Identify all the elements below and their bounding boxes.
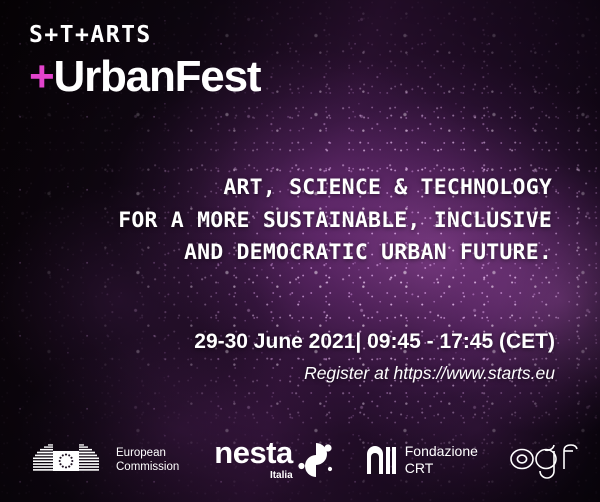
ogr-outline-wordmark-icon	[508, 437, 580, 484]
logo-fondazione-crt: Fondazione CRT	[365, 441, 478, 480]
headline-line-3: AND DEMOCRATIC URBAN FUTURE.	[118, 237, 552, 270]
logo-crt-line-2: CRT	[405, 460, 434, 476]
headline-line-2: FOR A MORE SUSTAINABLE, INCLUSIVE	[118, 205, 552, 238]
event-date-time: 29-30 June 2021| 09:45 - 17:45 (CET)	[194, 329, 555, 354]
fondazione-crt-bars-icon	[365, 441, 397, 480]
event-info: 29-30 June 2021| 09:45 - 17:45 (CET) Reg…	[194, 329, 555, 384]
logo-nesta-italia: nesta Italia	[214, 437, 332, 484]
nesta-circle-icon	[297, 439, 333, 484]
logo-nesta-sub: Italia	[214, 471, 292, 481]
logo-nesta-word: nesta	[214, 435, 292, 470]
logo-crt-line-1: Fondazione	[405, 443, 478, 459]
logo-ogr	[508, 437, 580, 484]
sponsor-logo-bar: European Commission nesta Italia	[0, 432, 600, 488]
brand-plus-symbol: +	[29, 52, 54, 101]
brand-urbanfest-text: UrbanFest	[54, 52, 261, 101]
headline-line-1: ART, SCIENCE & TECHNOLOGY	[118, 172, 552, 205]
logo-fondazione-crt-text: Fondazione CRT	[405, 443, 478, 476]
brand-urbanfest-label: +UrbanFest	[29, 55, 260, 99]
logo-ec-line-1: European	[116, 447, 166, 459]
brand-lockup: S+T+ARTS +UrbanFest	[29, 24, 260, 99]
logo-european-commission: European Commission	[33, 438, 179, 483]
poster-canvas: S+T+ARTS +UrbanFest ART, SCIENCE & TECHN…	[0, 0, 600, 502]
poster-content: S+T+ARTS +UrbanFest ART, SCIENCE & TECHN…	[0, 0, 600, 502]
event-register-link[interactable]: Register at https://www.starts.eu	[194, 363, 555, 384]
logo-ec-line-2: Commission	[116, 461, 179, 473]
eu-flag-icon	[33, 438, 109, 483]
brand-starts-label: S+T+ARTS	[29, 24, 260, 47]
logo-european-commission-text: European Commission	[116, 446, 179, 474]
logo-nesta-wordblock: nesta Italia	[214, 437, 292, 481]
headline: ART, SCIENCE & TECHNOLOGY FOR A MORE SUS…	[118, 172, 552, 270]
